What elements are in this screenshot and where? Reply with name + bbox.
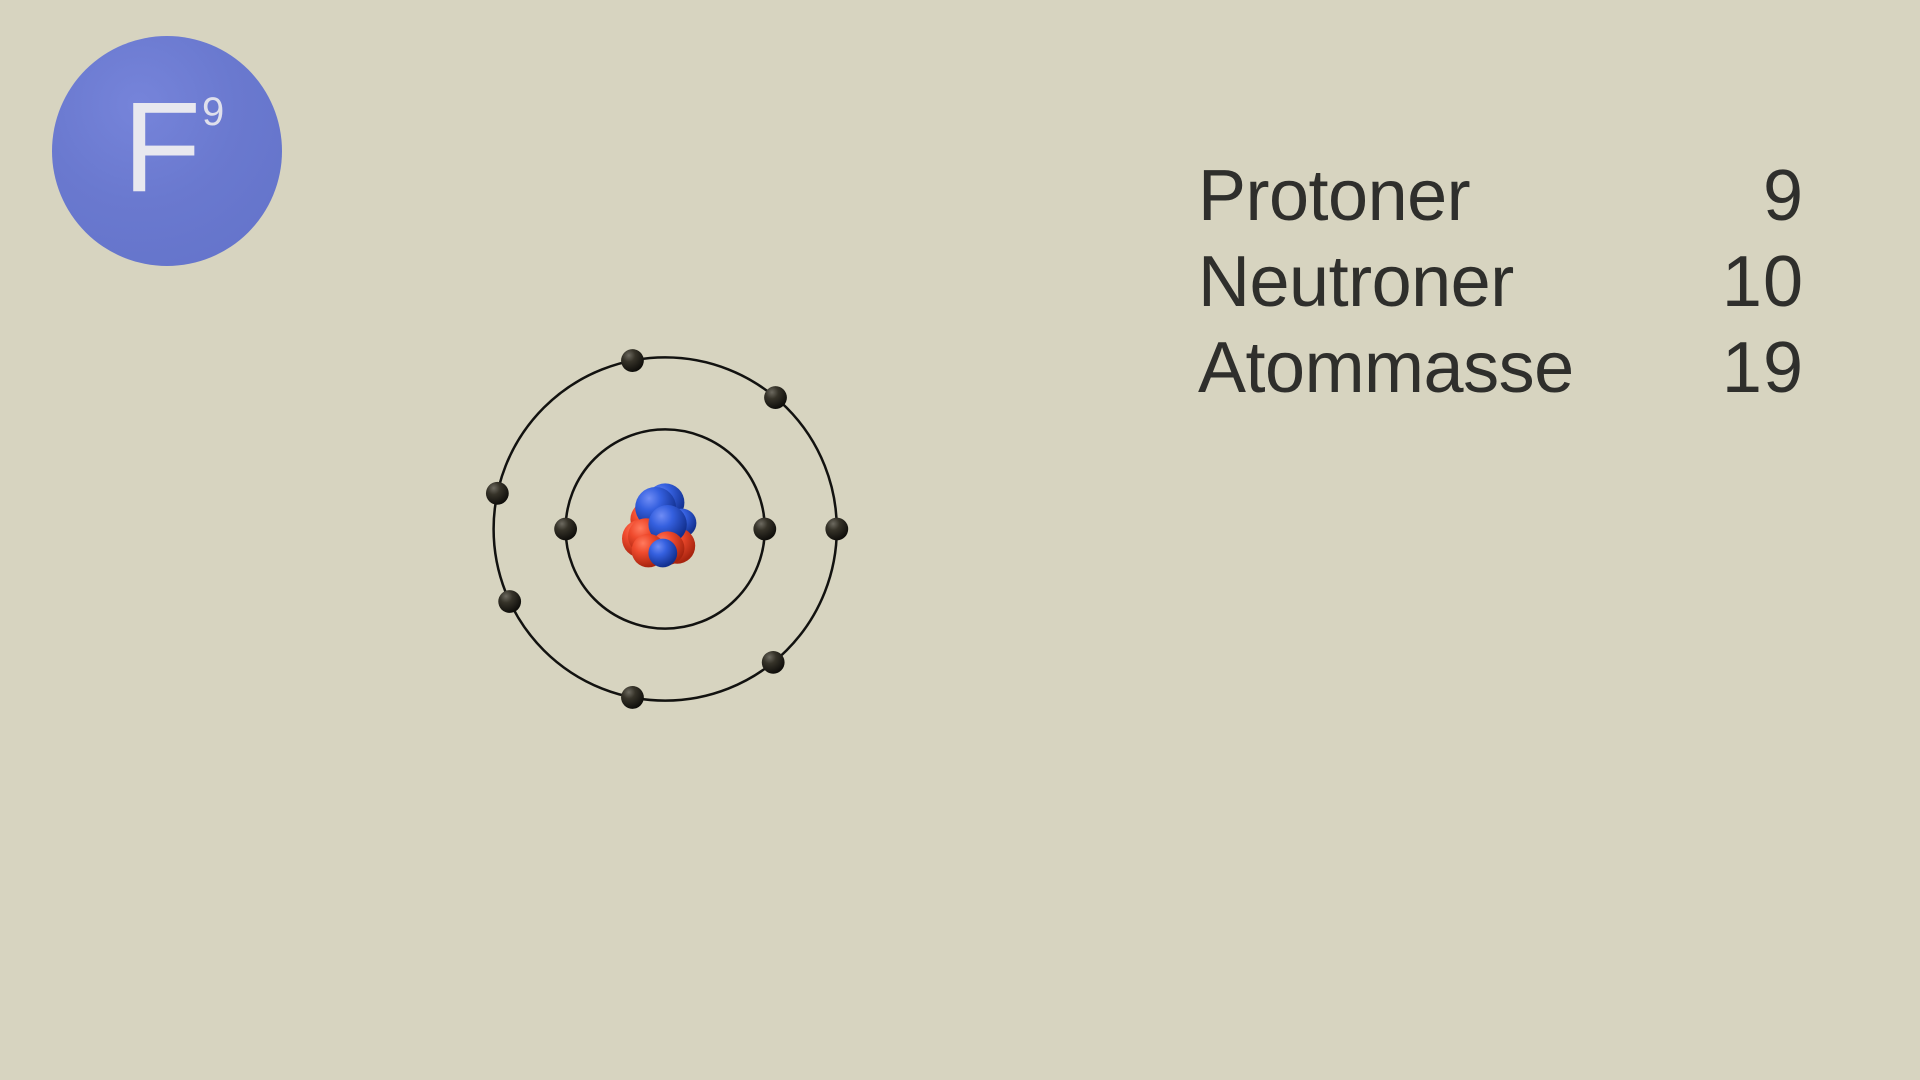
table-row: Neutroner 10: [1198, 246, 1838, 332]
electron: [753, 518, 776, 541]
nucleus-neutron: [648, 539, 677, 568]
atom-model: [490, 345, 850, 725]
electron: [762, 651, 785, 674]
electron: [621, 349, 644, 372]
element-symbol: F: [123, 84, 199, 212]
row-value-protons: 9: [1718, 160, 1838, 232]
row-value-neutrons: 10: [1718, 246, 1838, 318]
row-label-atomic-mass: Atommasse: [1198, 332, 1718, 404]
row-label-protons: Protoner: [1198, 160, 1718, 232]
element-atomic-number: 9: [202, 92, 224, 132]
diagram-canvas: F 9: [0, 0, 1920, 1080]
atomic-nucleus: [622, 483, 696, 567]
atom-properties-table: Protoner 9 Neutroner 10 Atommasse 19: [1198, 160, 1838, 418]
electron: [764, 386, 787, 409]
electron: [621, 686, 644, 709]
row-label-neutrons: Neutroner: [1198, 246, 1718, 318]
row-value-atomic-mass: 19: [1718, 332, 1838, 404]
table-row: Atommasse 19: [1198, 332, 1838, 418]
electron: [554, 518, 577, 541]
electron: [825, 518, 848, 541]
element-badge: F 9: [52, 36, 282, 266]
electron: [486, 482, 509, 505]
table-row: Protoner 9: [1198, 160, 1838, 246]
electron: [498, 590, 521, 613]
